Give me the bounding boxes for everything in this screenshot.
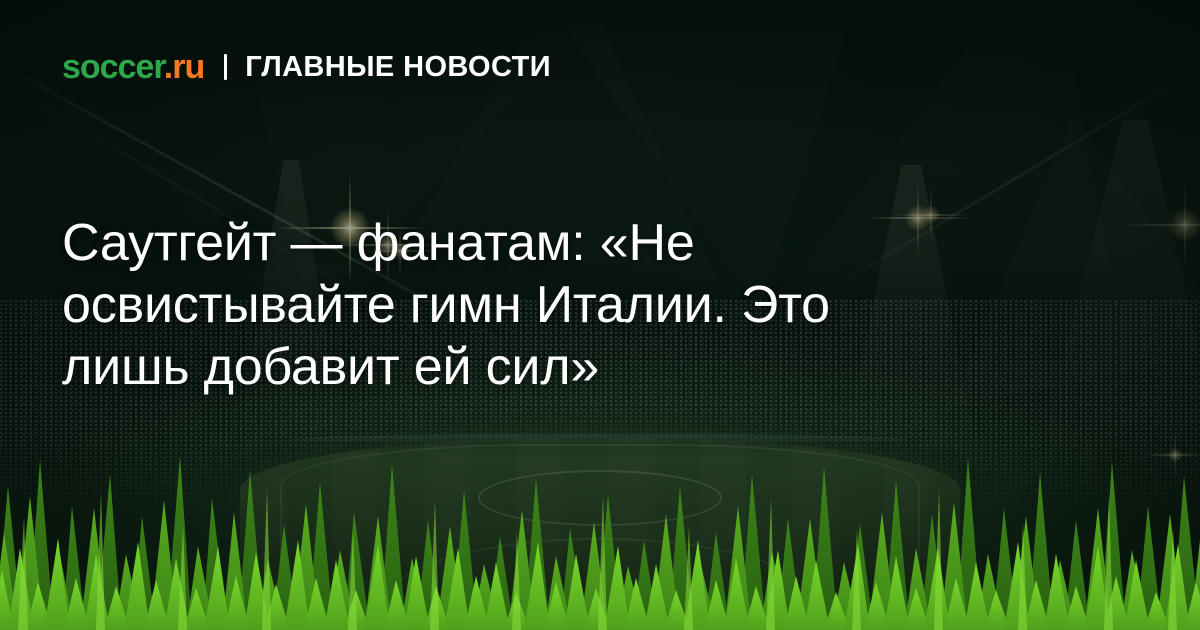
logo-tld: .ru	[164, 48, 204, 86]
share-card: soccer.ru ГЛАВНЫЕ НОВОСТИ Саутгейт — фан…	[0, 0, 1200, 630]
logo-name: soccer	[62, 48, 164, 86]
soccer-ru-logo[interactable]: soccer.ru	[62, 50, 204, 84]
brand-header: soccer.ru ГЛАВНЫЕ НОВОСТИ	[62, 50, 551, 84]
header-divider	[224, 54, 227, 80]
headline-line: лишь добавит ей сил»	[62, 336, 1062, 398]
foreground-grass	[0, 420, 1200, 630]
headline-line: Саутгейт — фанатам: «Не	[62, 212, 1062, 274]
section-kicker: ГЛАВНЫЕ НОВОСТИ	[245, 53, 551, 82]
headline-line: освистывайте гимн Италии. Это	[62, 274, 1062, 336]
page-title: Саутгейт — фанатам: «Не освистывайте гим…	[62, 212, 1062, 398]
